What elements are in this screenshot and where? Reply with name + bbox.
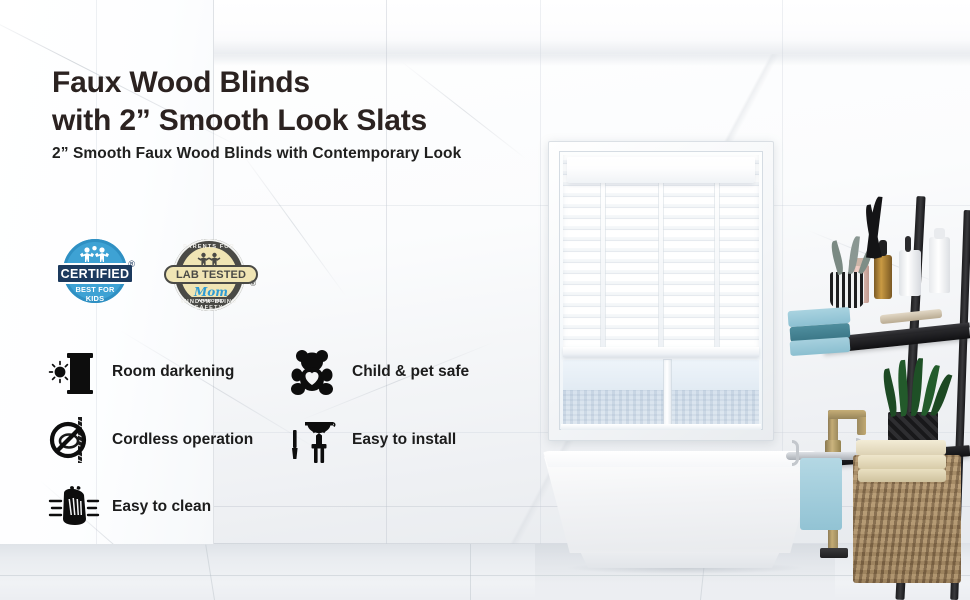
feature-label: Child & pet safe [352,363,469,381]
badge-lab-tested: PARENTS FOR LAB TESTED Mom APP [164,237,258,313]
feature-label: Room darkening [112,363,234,381]
feature-easy-to-clean: Easy to clean [48,483,211,531]
certified-label: CERTIFIED [61,267,130,281]
feature-easy-to-install: Easy to install [288,416,456,464]
lab-registered-mark: ® [250,279,256,288]
product-banner: Faux Wood Blinds with 2” Smooth Look Sla… [0,0,970,600]
feature-label: Easy to clean [112,498,211,516]
easy-to-install-icon [288,416,342,464]
certified-subtext-line2: KIDS [70,295,120,304]
cordless-operation-icon [48,416,102,464]
certified-people-icon [78,246,112,263]
easy-to-clean-icon [48,483,102,531]
child-pet-safe-icon [288,348,342,396]
lab-top-text: PARENTS FOR [173,244,245,250]
feature-child-pet-safe: Child & pet safe [288,348,469,396]
feature-room-darkening: Room darkening [48,348,234,396]
certified-subtext: BEST FOR KIDS [70,286,120,303]
feature-cordless-operation: Cordless operation [48,416,253,464]
lab-people-icon [197,252,221,266]
lab-tested-label: LAB TESTED [176,269,246,281]
certified-registered-mark: ® [128,259,135,269]
lab-bottom-text: WINDOW BLIND SAFETY [173,299,245,311]
page-title: Faux Wood Blinds with 2” Smooth Look Sla… [52,64,427,140]
feature-label: Easy to install [352,431,456,449]
certified-band: CERTIFIED [56,263,134,284]
room-darkening-icon [48,348,102,396]
banner-content: Faux Wood Blinds with 2” Smooth Look Sla… [0,0,970,600]
lab-tested-band: LAB TESTED [164,265,258,284]
badge-certified-best-for-kids: CERTIFIED BEST FOR KIDS ® [56,239,134,311]
page-subtitle: 2” Smooth Faux Wood Blinds with Contempo… [52,145,461,163]
feature-label: Cordless operation [112,431,253,449]
